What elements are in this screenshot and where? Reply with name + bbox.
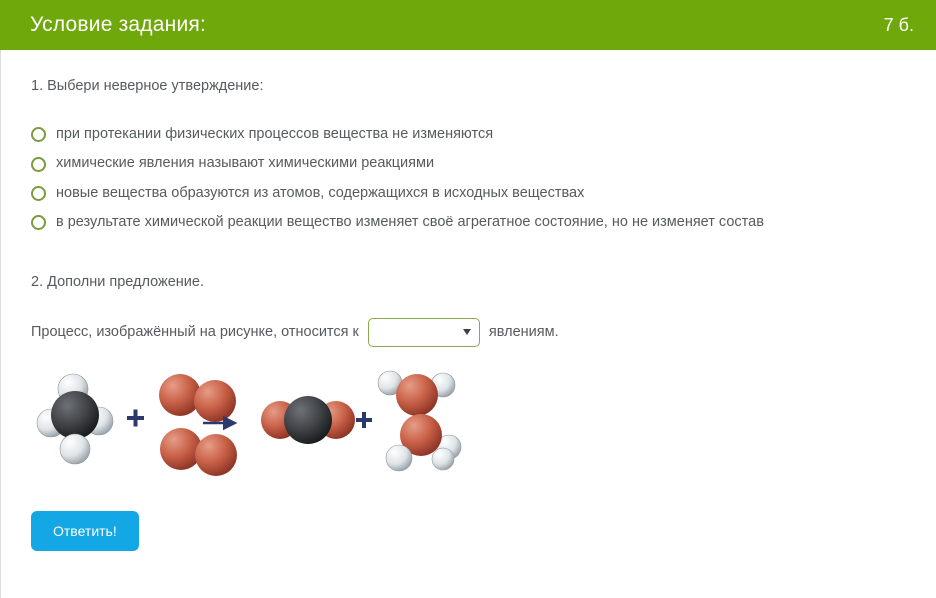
reaction-diagram [31,365,511,485]
molecule-illustration [31,365,511,485]
radio-button-icon[interactable] [31,157,46,172]
task-header-bar: Условие задания: 7 б. [0,0,936,50]
molecule-oxygen-1 [159,374,236,422]
radio-button-icon[interactable] [31,186,46,201]
option-label: новые вещества образуются из атомов, сод… [56,185,584,202]
plus-sign-1 [127,409,144,426]
submit-answer-button[interactable]: Ответить! [31,511,139,551]
radio-button-icon[interactable] [31,215,46,230]
molecule-water-1 [378,371,455,416]
option-row[interactable]: в результате химической реакции вещество… [31,214,935,231]
answer-select-dropdown[interactable] [368,318,480,347]
sentence-prefix: Процесс, изображённый на рисунке, относи… [31,324,359,340]
chevron-down-icon [463,329,471,335]
submit-area: Ответить! [31,511,935,551]
question-2-label: 2. Дополни предложение. [31,274,935,290]
question-1-label: 1. Выбери неверное утверждение: [31,78,935,94]
option-row[interactable]: новые вещества образуются из атомов, сод… [31,185,935,202]
molecule-oxygen-2 [160,428,237,476]
option-label: при протекании физических процессов веще… [56,126,493,143]
page-title: Условие задания: [30,13,206,37]
option-label: в результате химической реакции вещество… [56,214,764,231]
fill-in-sentence: Процесс, изображённый на рисунке, относи… [31,318,935,347]
molecule-carbon-dioxide [261,396,355,444]
task-body: 1. Выбери неверное утверждение: при прот… [0,50,936,598]
radio-button-icon[interactable] [31,127,46,142]
option-row[interactable]: химические явления называют химическими … [31,155,935,172]
molecule-water-2 [386,414,461,471]
sentence-suffix: явлениям. [489,324,559,340]
score-badge: 7 б. [884,15,914,36]
plus-sign-2 [356,412,372,428]
option-row[interactable]: при протекании физических процессов веще… [31,126,935,143]
option-label: химические явления называют химическими … [56,155,434,172]
molecule-methane [37,374,113,464]
question-1-options: при протекании физических процессов веще… [31,126,935,232]
